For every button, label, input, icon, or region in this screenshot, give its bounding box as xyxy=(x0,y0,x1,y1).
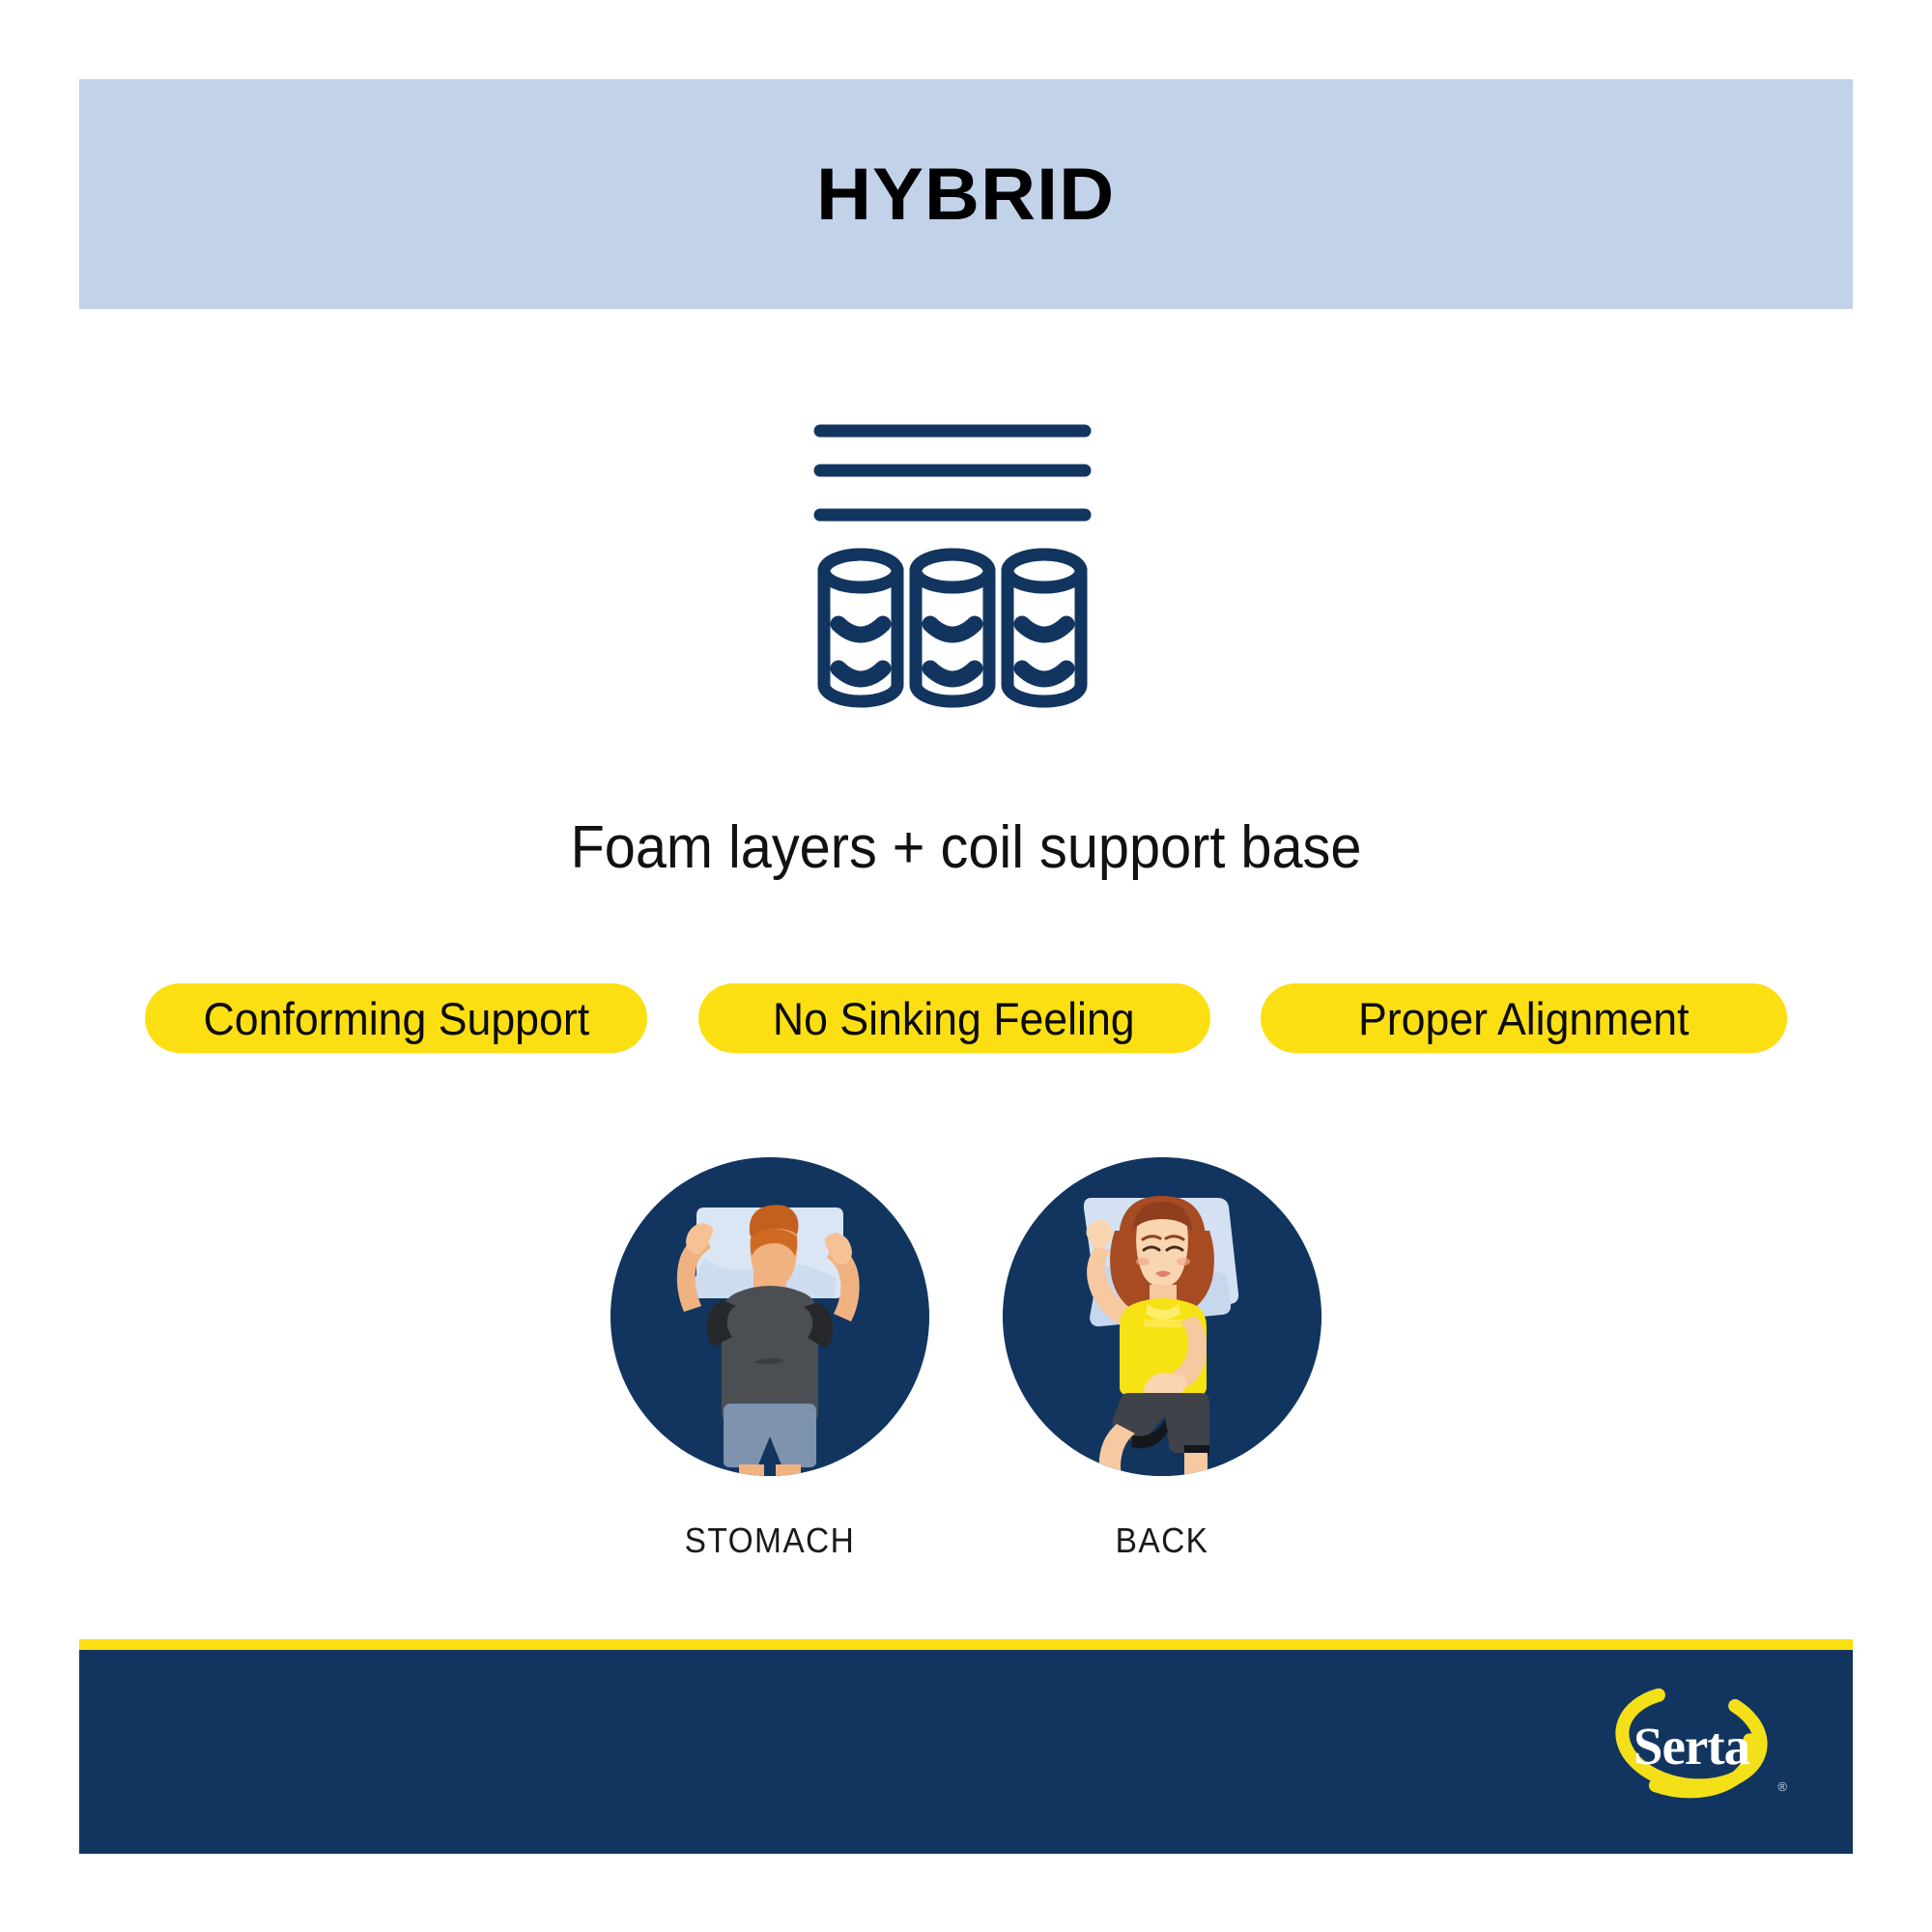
footer-accent-stripe xyxy=(79,1639,1853,1650)
coil-3 xyxy=(1008,554,1081,701)
coil-support-icon xyxy=(807,415,1125,734)
infographic-card: HYBRID xyxy=(0,0,1932,1932)
feature-pill-proper-alignment[interactable]: Proper Alignment xyxy=(1261,983,1787,1053)
feature-pill-no-sinking-feeling[interactable]: No Sinking Feeling xyxy=(698,983,1210,1053)
serta-wordmark: Serta xyxy=(1602,1682,1781,1809)
subtitle-text: Foam layers + coil support base xyxy=(68,813,1864,882)
sleep-position-stomach[interactable]: STOMACH xyxy=(611,1157,929,1561)
sleep-position-label: BACK xyxy=(1116,1520,1209,1561)
header-band: HYBRID xyxy=(79,79,1853,309)
registered-trademark-icon: ® xyxy=(1777,1779,1787,1794)
feature-pill-row: Conforming Support No Sinking Feeling Pr… xyxy=(145,983,1787,1053)
feature-pill-conforming-support[interactable]: Conforming Support xyxy=(145,983,647,1053)
feature-pill-label: Proper Alignment xyxy=(1358,992,1690,1045)
sleep-position-back[interactable]: BACK xyxy=(1003,1157,1321,1561)
feature-pill-label: No Sinking Feeling xyxy=(773,992,1135,1045)
feature-pill-label: Conforming Support xyxy=(203,992,589,1045)
sleep-position-row: STOMACH xyxy=(0,1157,1932,1561)
coil-2 xyxy=(916,554,989,701)
page-title: HYBRID xyxy=(816,153,1115,237)
coil-1 xyxy=(824,554,897,701)
stomach-sleeper-illustration xyxy=(611,1157,929,1476)
sleep-position-label: STOMACH xyxy=(685,1520,856,1561)
back-sleeper-illustration xyxy=(1003,1157,1321,1476)
footer-bar: Serta ® xyxy=(79,1639,1853,1854)
serta-logo[interactable]: Serta ® xyxy=(1602,1682,1781,1809)
